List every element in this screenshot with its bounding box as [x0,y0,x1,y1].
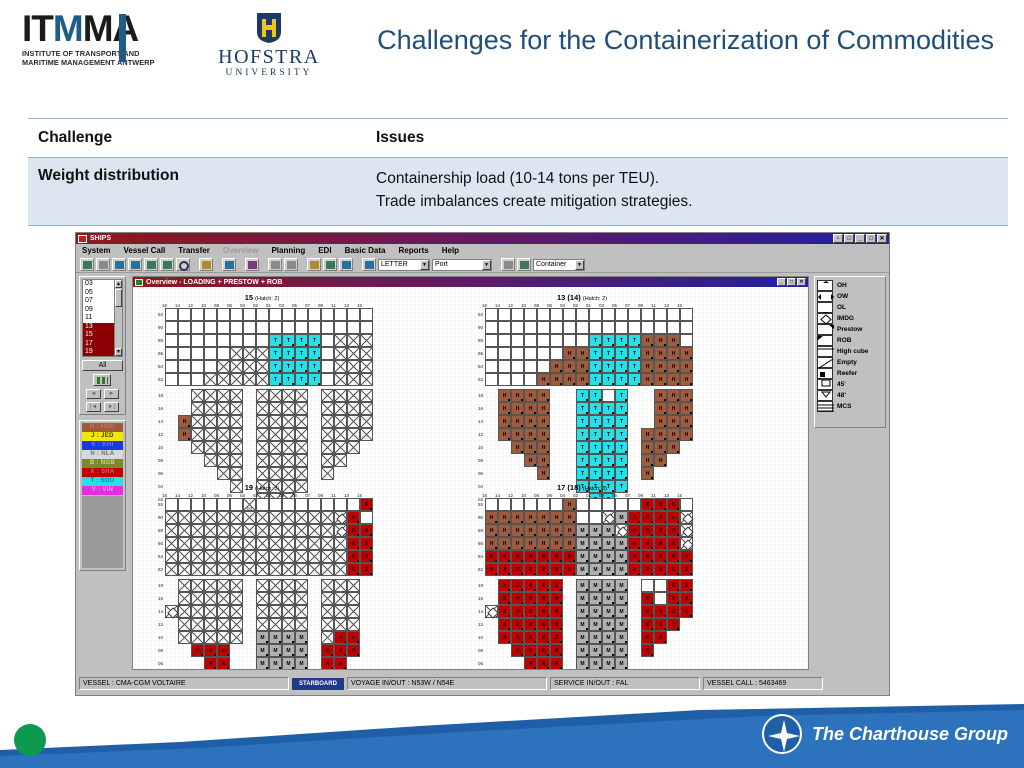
slot-H[interactable]: H [654,334,667,347]
slot-M[interactable]: M [576,644,589,657]
slot-empty[interactable] [256,308,269,321]
slot-unavailable[interactable] [321,537,334,550]
slot-M[interactable]: M [615,563,628,576]
slot-unavailable[interactable] [256,605,269,618]
slot-unavailable[interactable] [282,563,295,576]
slot-unavailable[interactable] [256,373,269,386]
slot-M[interactable]: M [576,657,589,669]
slot-unavailable[interactable] [295,550,308,563]
slot-X[interactable]: X [667,524,680,537]
slot-unavailable[interactable] [334,537,347,550]
slot-M[interactable]: M [282,657,295,669]
slot-unavailable[interactable] [178,524,191,537]
select-all-bays-button[interactable]: All [82,360,123,371]
slot-unavailable[interactable] [243,524,256,537]
slot-empty[interactable] [178,347,191,360]
slot-H[interactable]: H [524,389,537,402]
slot-unavailable[interactable] [165,537,178,550]
slot-T[interactable]: T [589,389,602,402]
slot-X[interactable]: X [347,644,360,657]
slot-unavailable[interactable] [334,592,347,605]
slot-H[interactable]: H [641,441,654,454]
slot-T[interactable]: T [269,360,282,373]
port-select[interactable]: Port ▼ [432,259,492,271]
slot-unavailable[interactable] [243,360,256,373]
slot-T[interactable]: T [308,347,321,360]
slot-empty[interactable] [537,360,550,373]
slot-X[interactable]: X [524,605,537,618]
slot-empty[interactable] [308,308,321,321]
slot-X[interactable]: X [498,579,511,592]
slot-empty[interactable] [360,511,373,524]
slot-X[interactable]: X [498,563,511,576]
slot-unavailable[interactable] [191,415,204,428]
slot-empty[interactable] [360,308,373,321]
legend-item-ngb[interactable]: B : NGB [82,459,123,468]
slot-unavailable[interactable] [230,563,243,576]
slot-unavailable[interactable] [295,402,308,415]
slot-empty[interactable] [243,321,256,334]
slot-M[interactable]: M [602,592,615,605]
slot-empty[interactable] [347,308,360,321]
slot-empty[interactable] [282,498,295,511]
slot-empty[interactable] [550,308,563,321]
slot-empty[interactable] [485,360,498,373]
slot-empty[interactable] [191,321,204,334]
legend-item-sou[interactable]: T : SOU [82,477,123,486]
slot-M[interactable]: M [589,631,602,644]
slot-unavailable[interactable] [165,524,178,537]
slot-empty[interactable] [191,498,204,511]
slot-H[interactable]: H [654,454,667,467]
vessel-open-icon[interactable] [80,258,94,271]
slot-H[interactable]: H [485,537,498,550]
slot-unavailable[interactable] [217,428,230,441]
slot-H[interactable]: H [537,467,550,480]
slot-M[interactable]: M [576,605,589,618]
slot-T[interactable]: T [602,347,615,360]
slot-X[interactable]: X [360,524,373,537]
slot-X[interactable]: X [498,631,511,644]
slot-T[interactable]: T [602,467,615,480]
slot-empty[interactable] [191,360,204,373]
slot-T[interactable]: T [602,373,615,386]
slot-empty[interactable] [602,498,615,511]
slot-imdg[interactable] [602,511,615,524]
slot-unavailable[interactable] [217,592,230,605]
slot-unavailable[interactable] [334,550,347,563]
slot-empty[interactable] [550,334,563,347]
slot-unavailable[interactable] [230,524,243,537]
slot-X[interactable]: X [563,563,576,576]
slot-M[interactable]: M [576,631,589,644]
slot-X[interactable]: X [360,563,373,576]
slot-empty[interactable] [321,498,334,511]
slot-H[interactable]: H [537,402,550,415]
slot-unavailable[interactable] [282,511,295,524]
slot-unavailable[interactable] [334,402,347,415]
slot-H[interactable]: H [654,402,667,415]
slot-X[interactable]: X [563,550,576,563]
slot-unavailable[interactable] [165,563,178,576]
slot-X[interactable]: X [667,592,680,605]
slot-unavailable[interactable] [230,360,243,373]
slot-unavailable[interactable] [282,524,295,537]
slot-X[interactable]: X [654,605,667,618]
slot-H[interactable]: H [654,373,667,386]
slot-empty[interactable] [641,308,654,321]
slot-M[interactable]: M [602,618,615,631]
slot-empty[interactable] [511,308,524,321]
slot-H[interactable]: H [511,511,524,524]
slot-X[interactable]: X [498,618,511,631]
slot-X[interactable]: X [641,592,654,605]
minimize-button[interactable]: _ [855,234,865,243]
bay-selector-box[interactable]: 03 05 07 09 11 13 15 17 19 ▲ ▼ All [79,276,126,415]
slot-X[interactable]: X [550,550,563,563]
slot-unavailable[interactable] [243,347,256,360]
slot-M[interactable]: M [615,644,628,657]
slot-empty[interactable] [654,308,667,321]
slot-unavailable[interactable] [282,550,295,563]
slot-empty[interactable] [537,498,550,511]
slot-unavailable[interactable] [204,389,217,402]
slot-unavailable[interactable] [347,389,360,402]
slot-unavailable[interactable] [334,563,347,576]
slot-M[interactable]: M [269,644,282,657]
slot-unavailable[interactable] [204,550,217,563]
slot-unavailable[interactable] [204,592,217,605]
slot-empty[interactable] [589,321,602,334]
slot-X[interactable]: X [628,563,641,576]
slot-M[interactable]: M [589,644,602,657]
overview-window[interactable]: Overview - LOADING + PRESTOW + ROB _ □ ✕… [132,276,809,670]
slot-unavailable[interactable] [360,360,373,373]
slot-unavailable[interactable] [165,550,178,563]
slot-unavailable[interactable] [204,373,217,386]
slot-T[interactable]: T [615,428,628,441]
slot-H[interactable]: H [667,360,680,373]
slot-M[interactable]: M [602,537,615,550]
slot-H[interactable]: H [641,347,654,360]
slot-unavailable[interactable] [269,579,282,592]
slot-X[interactable]: X [641,524,654,537]
slot-H[interactable]: H [550,524,563,537]
left-tool-panel[interactable]: 03 05 07 09 11 13 15 17 19 ▲ ▼ All [79,276,126,670]
slot-X[interactable]: X [641,618,654,631]
slot-empty[interactable] [204,321,217,334]
slot-empty[interactable] [256,498,269,511]
slot-M[interactable]: M [282,631,295,644]
legend-item-khi[interactable]: K : KHI [82,441,123,450]
slot-unavailable[interactable] [178,511,191,524]
slot-H[interactable]: H [485,524,498,537]
slot-empty[interactable] [230,308,243,321]
slot-X[interactable]: X [524,592,537,605]
slot-X[interactable]: X [667,579,680,592]
slot-empty[interactable] [334,498,347,511]
slot-empty[interactable] [615,498,628,511]
slot-H[interactable]: H [537,537,550,550]
slot-empty[interactable] [537,334,550,347]
slot-empty[interactable] [321,373,334,386]
slot-unavailable[interactable] [217,441,230,454]
slot-X[interactable]: X [524,644,537,657]
slot-T[interactable]: T [615,402,628,415]
slot-unavailable[interactable] [334,428,347,441]
discharge-list-icon[interactable] [284,258,298,271]
slot-H[interactable]: H [641,334,654,347]
slot-empty[interactable] [204,347,217,360]
slot-empty[interactable] [485,347,498,360]
slot-M[interactable]: M [615,657,628,669]
slot-unavailable[interactable] [191,524,204,537]
slot-unavailable[interactable] [269,428,282,441]
slot-M[interactable]: M [269,631,282,644]
bay-list[interactable]: 03 05 07 09 11 13 15 17 19 ▲ ▼ [82,279,123,357]
slot-unavailable[interactable] [295,441,308,454]
slot-empty[interactable] [165,360,178,373]
slot-empty[interactable] [667,321,680,334]
slot-H[interactable]: H [524,402,537,415]
slot-T[interactable]: T [576,428,589,441]
slot-H[interactable]: H [498,524,511,537]
slot-unavailable[interactable] [191,428,204,441]
slot-unavailable[interactable] [282,428,295,441]
slot-unavailable[interactable] [230,511,243,524]
slot-H[interactable]: H [563,498,576,511]
slot-H[interactable]: H [178,415,191,428]
slot-empty[interactable] [628,321,641,334]
slot-X[interactable]: X [641,537,654,550]
slot-T[interactable]: T [295,373,308,386]
slot-unavailable[interactable] [269,592,282,605]
slot-unavailable[interactable] [178,537,191,550]
slot-unavailable[interactable] [282,592,295,605]
slot-M[interactable]: M [589,657,602,669]
slot-H[interactable]: H [680,402,693,415]
slot-X[interactable]: X [524,657,537,669]
slot-unavailable[interactable] [321,618,334,631]
slot-empty[interactable] [165,321,178,334]
slot-empty[interactable] [589,308,602,321]
slot-X[interactable]: X [641,550,654,563]
slot-unavailable[interactable] [295,579,308,592]
overview-title-bar[interactable]: Overview - LOADING + PRESTOW + ROB _ □ ✕ [133,277,808,287]
slot-H[interactable]: H [680,428,693,441]
slot-unavailable[interactable] [334,605,347,618]
slot-unavailable[interactable] [282,537,295,550]
slot-M[interactable]: M [589,563,602,576]
bay-plan-15[interactable]: 15 (Hatch: 2) 16141210080604020103050709… [151,293,373,511]
slot-H[interactable]: H [550,373,563,386]
slot-empty[interactable] [641,321,654,334]
vessel-add-icon[interactable] [144,258,158,271]
window-controls[interactable]: - □ _ □ ✕ [833,234,887,243]
slot-unavailable[interactable] [295,537,308,550]
slot-X[interactable]: X [628,524,641,537]
container-filter-icon[interactable] [517,258,531,271]
slot-X[interactable]: X [511,605,524,618]
slot-unavailable[interactable] [360,373,373,386]
nav-row-2[interactable]: |◄ ►| [82,402,123,412]
slot-unavailable[interactable] [256,402,269,415]
slot-empty[interactable] [165,334,178,347]
slot-empty[interactable] [576,334,589,347]
slot-X[interactable]: X [347,511,360,524]
slot-empty[interactable] [485,334,498,347]
slot-unavailable[interactable] [256,524,269,537]
slot-unavailable[interactable] [295,415,308,428]
slot-X[interactable]: X [550,605,563,618]
bay-15-above-deck-grid[interactable]: TTTTTTTTTTTTTTTT [165,308,373,386]
slot-unavailable[interactable] [334,441,347,454]
slot-unavailable[interactable] [230,373,243,386]
slot-X[interactable]: X [321,657,334,669]
slot-empty[interactable] [654,592,667,605]
filter-icon[interactable] [501,258,515,271]
slot-unavailable[interactable] [360,428,373,441]
slot-empty[interactable] [563,308,576,321]
slot-unavailable[interactable] [295,618,308,631]
slot-unavailable[interactable] [191,563,204,576]
slot-H[interactable]: H [524,537,537,550]
slot-H[interactable]: H [537,415,550,428]
slot-X[interactable]: X [537,618,550,631]
slot-T[interactable]: T [308,373,321,386]
slot-X[interactable]: X [667,618,680,631]
slot-T[interactable]: T [269,373,282,386]
slot-unavailable[interactable] [321,454,334,467]
slot-unavailable[interactable] [230,618,243,631]
slot-M[interactable]: M [576,592,589,605]
slot-unavailable[interactable] [282,579,295,592]
slot-X[interactable]: X [537,644,550,657]
slot-unavailable[interactable] [295,454,308,467]
slot-T[interactable]: T [576,454,589,467]
slot-H[interactable]: H [641,454,654,467]
slot-empty[interactable] [178,308,191,321]
slot-T[interactable]: T [615,373,628,386]
slot-empty[interactable] [524,308,537,321]
slot-M[interactable]: M [602,563,615,576]
slot-M[interactable]: M [269,657,282,669]
slot-H[interactable]: H [511,537,524,550]
slot-X[interactable]: X [498,550,511,563]
slot-H[interactable]: H [537,454,550,467]
slot-H[interactable]: H [498,389,511,402]
stowage-icon[interactable] [362,258,376,271]
slot-X[interactable]: X [485,563,498,576]
vessel-delete-icon[interactable] [112,258,126,271]
slot-H[interactable]: H [511,441,524,454]
slot-unavailable[interactable] [256,347,269,360]
slot-X[interactable]: X [667,550,680,563]
slot-empty[interactable] [602,321,615,334]
slot-empty[interactable] [498,373,511,386]
load-list-icon[interactable] [268,258,282,271]
slot-H[interactable]: H [550,511,563,524]
slot-unavailable[interactable] [230,441,243,454]
slot-H[interactable]: H [563,537,576,550]
slot-empty[interactable] [191,308,204,321]
slot-T[interactable]: T [615,347,628,360]
slot-T[interactable]: T [282,373,295,386]
slot-M[interactable]: M [256,644,269,657]
slot-empty[interactable] [511,360,524,373]
slot-unavailable[interactable] [321,402,334,415]
slot-unavailable[interactable] [282,467,295,480]
slot-T[interactable]: T [282,347,295,360]
slot-empty[interactable] [321,321,334,334]
slot-unavailable[interactable] [321,415,334,428]
slot-empty[interactable] [602,308,615,321]
slot-unavailable[interactable] [334,334,347,347]
slot-M[interactable]: M [589,524,602,537]
slot-unavailable[interactable] [347,415,360,428]
nav-row-1[interactable]: ◄ ► [82,389,123,399]
percent-icon[interactable] [307,258,321,271]
slot-T[interactable]: T [602,334,615,347]
slot-imdg[interactable] [485,605,498,618]
slot-unavailable[interactable] [230,605,243,618]
slot-X[interactable]: X [550,592,563,605]
prev-bay-button[interactable]: ◄ [86,389,101,399]
bay-19-above-deck-grid[interactable]: XXXXXXXXXX [165,498,373,576]
slot-M[interactable]: M [576,537,589,550]
slot-empty[interactable] [498,321,511,334]
slot-X[interactable]: X [654,524,667,537]
slot-empty[interactable] [628,308,641,321]
slot-unavailable[interactable] [217,524,230,537]
menu-item-edi[interactable]: EDI [318,246,331,255]
slot-unavailable[interactable] [308,524,321,537]
slot-imdg[interactable] [334,511,347,524]
slot-empty[interactable] [360,321,373,334]
slot-unavailable[interactable] [360,389,373,402]
legend-item-nla[interactable]: N : NLA [82,450,123,459]
slot-imdg[interactable] [680,537,693,550]
slot-unavailable[interactable] [204,579,217,592]
slot-empty[interactable] [308,321,321,334]
slot-M[interactable]: M [295,657,308,669]
slot-X[interactable]: X [667,563,680,576]
slot-H[interactable]: H [524,524,537,537]
slot-X[interactable]: X [524,550,537,563]
bay-plot-area[interactable]: 15 (Hatch: 2) 16141210080604020103050709… [133,287,808,669]
slot-unavailable[interactable] [256,454,269,467]
slot-M[interactable]: M [615,592,628,605]
slot-unavailable[interactable] [256,579,269,592]
legend-item-jed[interactable]: J : JED [82,432,123,441]
slot-unavailable[interactable] [321,389,334,402]
slot-X[interactable]: X [537,579,550,592]
slot-T[interactable]: T [589,334,602,347]
slot-empty[interactable] [269,498,282,511]
slot-empty[interactable] [334,308,347,321]
slot-empty[interactable] [654,321,667,334]
slot-unavailable[interactable] [295,524,308,537]
slot-empty[interactable] [165,373,178,386]
slot-unavailable[interactable] [204,454,217,467]
slot-unavailable[interactable] [347,402,360,415]
slot-unavailable[interactable] [282,389,295,402]
slot-unavailable[interactable] [165,511,178,524]
slot-empty[interactable] [628,498,641,511]
next-bay-button[interactable]: ► [104,389,119,399]
slot-X[interactable]: X [550,618,563,631]
slot-X[interactable]: X [360,550,373,563]
